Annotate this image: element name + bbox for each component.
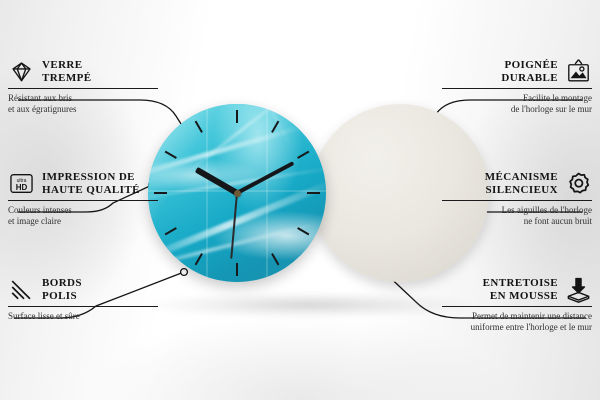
feature-poignee-durable[interactable]: POIGNÉE DURABLE Facilite le montage de l… <box>442 58 592 115</box>
face-panel-seam <box>206 104 208 282</box>
polished-edges-icon <box>8 276 35 303</box>
clock-tick <box>307 192 320 194</box>
product-shadow <box>150 292 470 318</box>
diamond-icon <box>8 58 35 85</box>
feature-title: IMPRESSION DE HAUTE QUALITÉ <box>42 171 140 196</box>
feature-divider <box>442 200 592 201</box>
feature-bords-polis[interactable]: BORDS POLIS Surface lisse et sûre <box>8 276 158 322</box>
feature-header: VERRE TREMPÉ <box>8 58 158 85</box>
clock-tick <box>236 110 238 123</box>
feature-title: MÉCANISME SILENCIEUX <box>485 171 558 196</box>
feature-divider <box>442 306 592 307</box>
feature-description: Surface lisse et sûre <box>8 311 158 322</box>
feature-divider <box>8 88 158 89</box>
down-arrow-stack-icon <box>565 276 592 303</box>
feature-divider <box>8 200 158 201</box>
feature-divider <box>8 306 158 307</box>
feature-header: MÉCANISME SILENCIEUX <box>442 170 592 197</box>
feature-header: POIGNÉE DURABLE <box>442 58 592 85</box>
gear-icon <box>565 170 592 197</box>
feature-description: Couleurs intenses et image claire <box>8 205 158 227</box>
feature-entretoise-en-mousse[interactable]: ENTRETOISE EN MOUSSE Permet de maintenir… <box>442 276 592 333</box>
feature-verre-trempe[interactable]: VERRE TREMPÉ Résistant aux bris et aux é… <box>8 58 158 115</box>
feature-description: Permet de maintenir une distance uniform… <box>442 311 592 333</box>
feature-title: BORDS POLIS <box>42 277 82 302</box>
svg-text:HD: HD <box>16 183 28 192</box>
feature-description: Résistant aux bris et aux égratignures <box>8 93 158 115</box>
feature-title: VERRE TREMPÉ <box>42 59 91 84</box>
feature-divider <box>442 88 592 89</box>
feature-description: Facilite le montage de l'horloge sur le … <box>442 93 592 115</box>
face-panel-seam <box>266 104 268 282</box>
feature-header: ultra HD IMPRESSION DE HAUTE QUALITÉ <box>8 170 158 197</box>
clock-tick <box>236 263 238 276</box>
infographic-canvas: VERRE TREMPÉ Résistant aux bris et aux é… <box>0 0 600 400</box>
picture-hanger-icon <box>565 58 592 85</box>
clock-front-view <box>148 104 326 282</box>
feature-title: POIGNÉE DURABLE <box>501 59 558 84</box>
feature-header: ENTRETOISE EN MOUSSE <box>442 276 592 303</box>
clock-center-cap <box>234 190 241 197</box>
feature-description: Les aiguilles de l'horloge ne font aucun… <box>442 205 592 227</box>
ultra-hd-icon: ultra HD <box>8 170 35 197</box>
feature-title: ENTRETOISE EN MOUSSE <box>483 277 558 302</box>
feature-header: BORDS POLIS <box>8 276 158 303</box>
feature-impression-haute-qualite[interactable]: ultra HD IMPRESSION DE HAUTE QUALITÉ Cou… <box>8 170 158 227</box>
feature-mecanisme-silencieux[interactable]: MÉCANISME SILENCIEUX Les aiguilles de l'… <box>442 170 592 227</box>
